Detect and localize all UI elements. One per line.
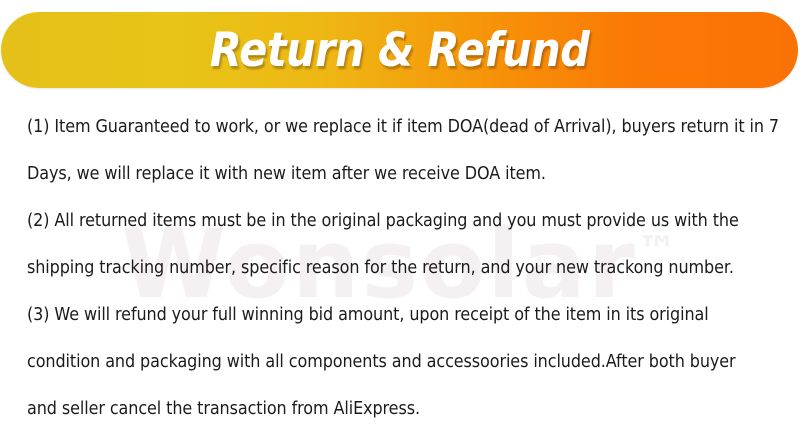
policy-line: Days, we will replace it with new item a… — [27, 151, 713, 198]
page-title: Return & Refund — [210, 27, 590, 74]
policy-line: shipping tracking number, specific reaso… — [27, 245, 713, 292]
policy-line: (2) All returned items must be in the or… — [27, 198, 713, 245]
policy-line: (1) Item Guaranteed to work, or we repla… — [27, 104, 713, 151]
header-banner: Return & Refund — [1, 12, 798, 88]
policy-line: condition and packaging with all compone… — [27, 339, 713, 386]
return-refund-policy-graphic: Wonsolar™ Return & Refund (1) Item Guara… — [0, 0, 800, 448]
policy-line: (3) We will refund your full winning bid… — [27, 292, 713, 339]
policy-line: and seller cancel the transaction from A… — [27, 386, 713, 433]
policy-text-block: (1) Item Guaranteed to work, or we repla… — [27, 104, 777, 433]
